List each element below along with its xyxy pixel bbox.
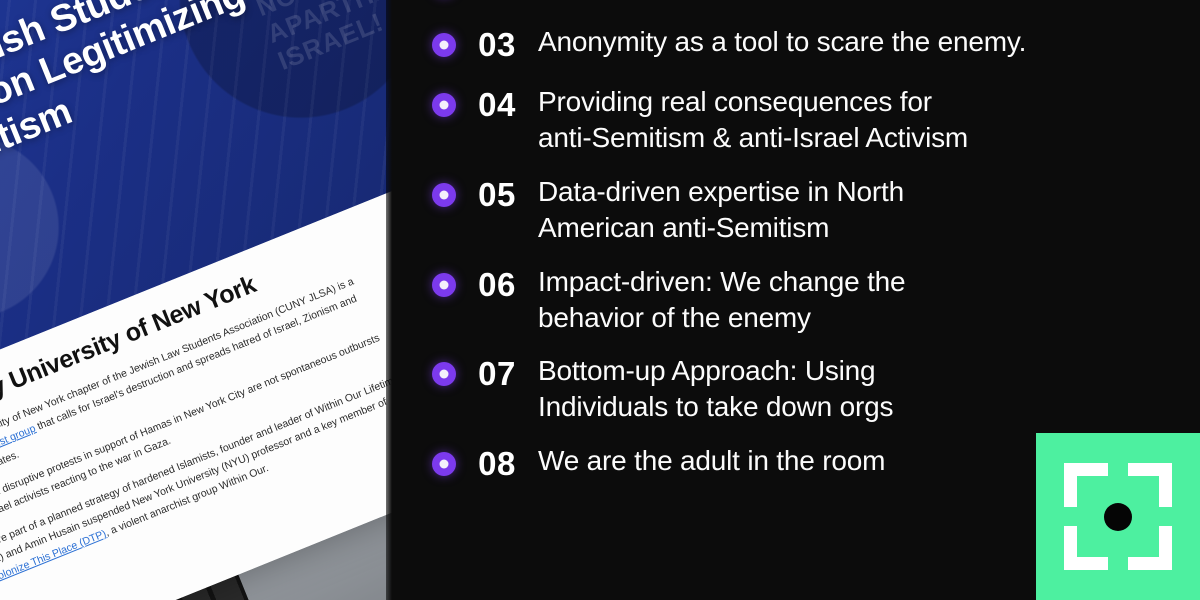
list-item-number: 08 <box>456 443 538 485</box>
list-item-number: 07 <box>456 353 538 395</box>
list-item-line-2: Individuals to take down orgs <box>538 389 1190 425</box>
list-item-text: Providing real consequences for anti-Sem… <box>538 84 1200 156</box>
list-item[interactable]: 02 Attack The Messenger, Not The Message <box>392 0 1200 6</box>
bracket-top-left-v <box>1064 463 1077 507</box>
list-item[interactable]: 05 Data-driven expertise in North Americ… <box>392 174 1200 246</box>
list-item-line-1: Impact-driven: We change the <box>538 266 905 297</box>
logo-center-dot <box>1104 503 1132 531</box>
bracket-top-right-v <box>1159 463 1172 507</box>
list-item-text: Data-driven expertise in North American … <box>538 174 1200 246</box>
list-item-number: 03 <box>456 24 538 66</box>
list-item-line-1: We are the adult in the room <box>538 445 885 476</box>
list-item-line-2: behavior of the enemy <box>538 300 1190 336</box>
list-item-line-1: Data-driven expertise in North <box>538 176 904 207</box>
article-headline: CUNY Jewish Student Association Legitimi… <box>0 0 297 218</box>
list-item-line-2: American anti-Semitism <box>538 210 1190 246</box>
tactics-list: 02 Attack The Messenger, Not The Message… <box>392 0 1200 503</box>
list-item-text: Bottom-up Approach: Using Individuals to… <box>538 353 1200 425</box>
bracket-bottom-left-v <box>1064 526 1077 570</box>
slide-stage: HOME ABOUT US ⌄ PROFILES ⌄ BLOGS CAMPAIG… <box>0 0 1200 600</box>
list-item-line-2: anti-Semitism & anti-Israel Activism <box>538 120 1190 156</box>
laptop-photo-panel: HOME ABOUT US ⌄ PROFILES ⌄ BLOGS CAMPAIG… <box>0 0 392 600</box>
bullet-icon <box>432 183 456 207</box>
list-item-line-1: Bottom-up Approach: Using <box>538 355 875 386</box>
bullet-icon <box>432 273 456 297</box>
focus-capture-logo[interactable] <box>1036 433 1200 600</box>
bullet-icon <box>432 93 456 117</box>
list-item[interactable]: 07 Bottom-up Approach: Using Individuals… <box>392 353 1200 425</box>
list-item-line-1: Anonymity as a tool to scare the enemy. <box>538 26 1026 57</box>
bullet-icon <box>432 362 456 386</box>
bullet-icon <box>432 33 456 57</box>
list-item[interactable]: 04 Providing real consequences for anti-… <box>392 84 1200 156</box>
list-item-number: 06 <box>456 264 538 306</box>
list-item-number: 02 <box>456 0 538 6</box>
list-item-text: Impact-driven: We change the behavior of… <box>538 264 1200 336</box>
list-item[interactable]: 06 Impact-driven: We change the behavior… <box>392 264 1200 336</box>
laptop-screen: HOME ABOUT US ⌄ PROFILES ⌄ BLOGS CAMPAIG… <box>0 0 392 600</box>
bullet-icon <box>432 452 456 476</box>
list-item-number: 05 <box>456 174 538 216</box>
list-item-text: Anonymity as a tool to scare the enemy. <box>538 24 1200 60</box>
list-item-number: 04 <box>456 84 538 126</box>
list-item[interactable]: 03 Anonymity as a tool to scare the enem… <box>392 24 1200 66</box>
bracket-bottom-right-v <box>1159 526 1172 570</box>
list-item-line-1: Providing real consequences for <box>538 86 932 117</box>
